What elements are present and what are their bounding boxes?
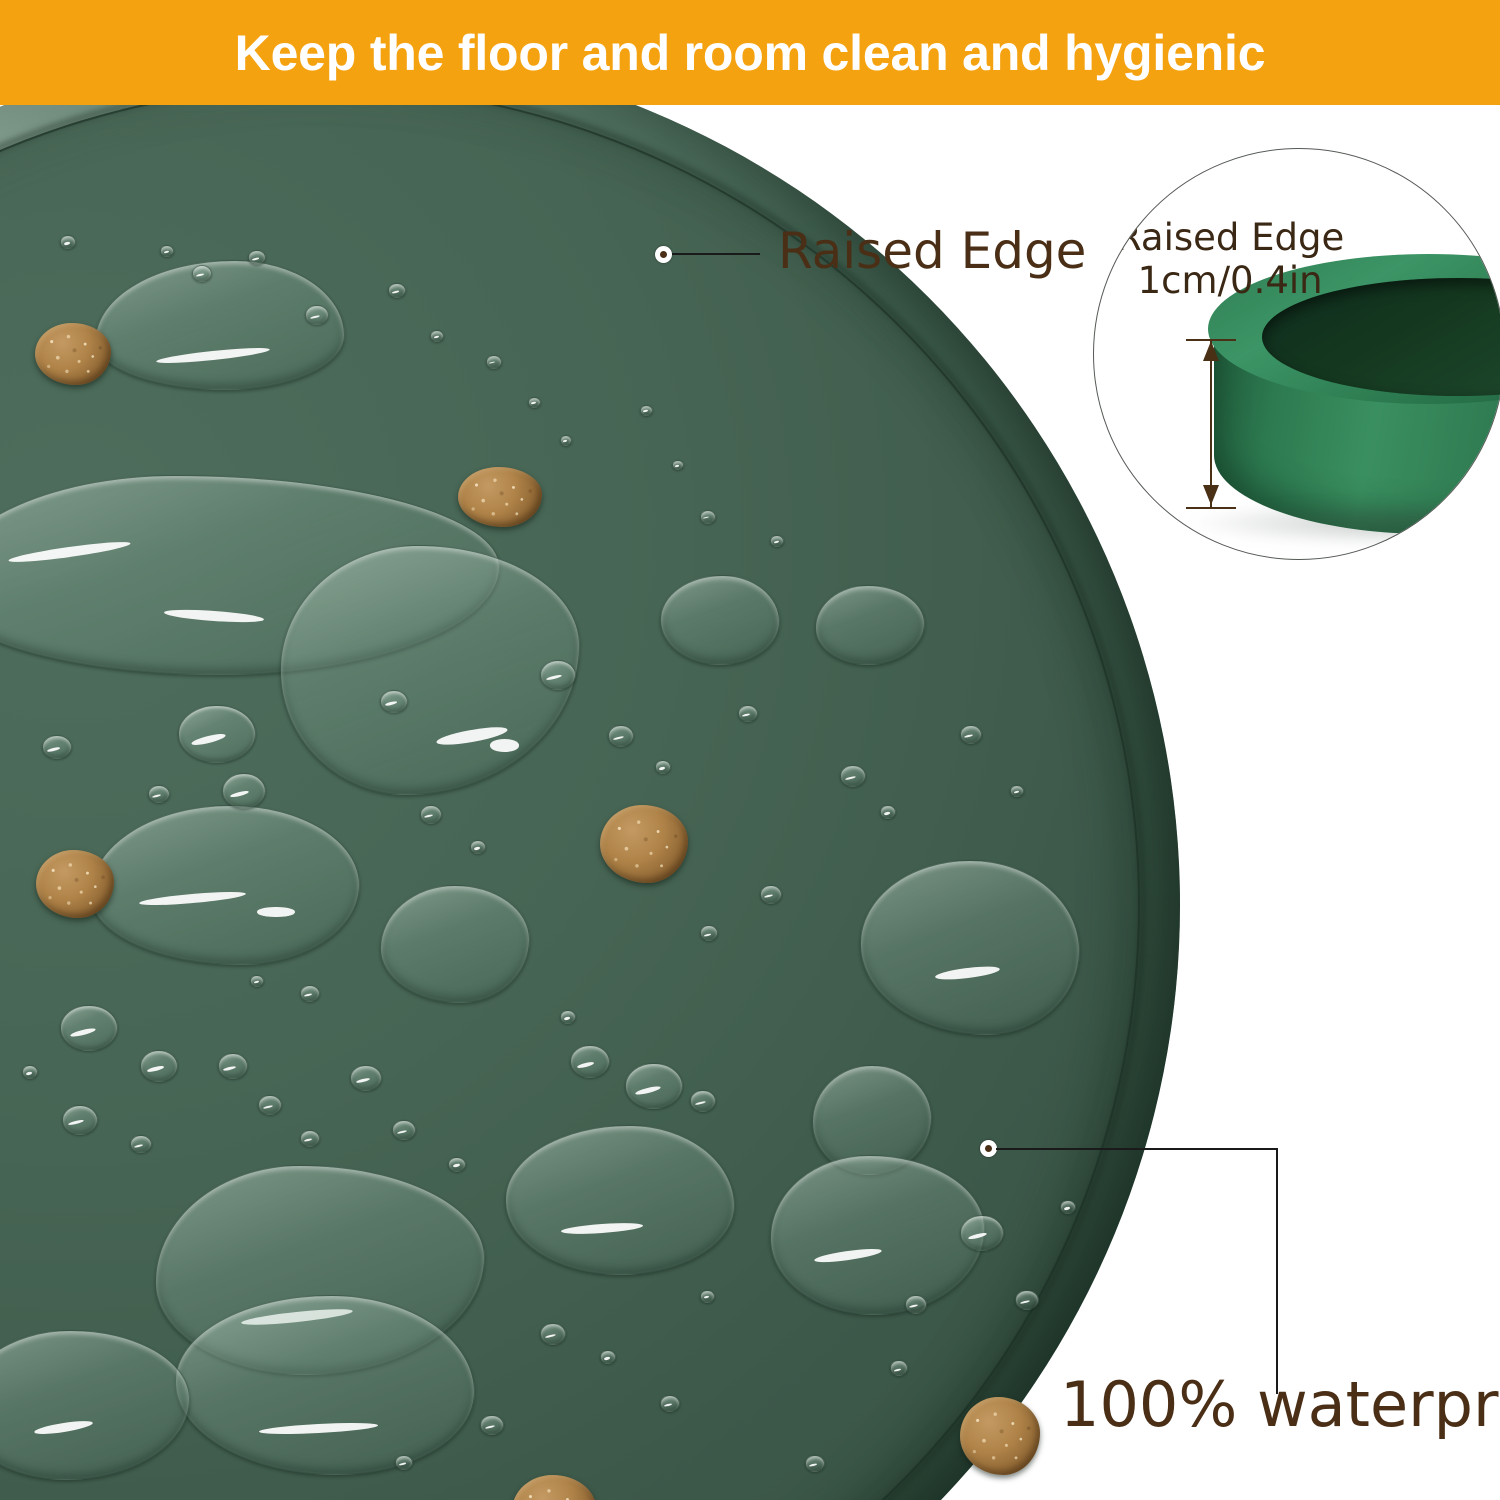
water-droplet xyxy=(222,773,266,809)
water-droplet xyxy=(60,235,76,249)
inset-label-line2: 1cm/0.4in xyxy=(1116,260,1344,303)
water-droplet xyxy=(540,660,576,690)
water-droplet xyxy=(250,975,264,987)
top-banner: Keep the floor and room clean and hygien… xyxy=(0,0,1500,105)
dimension-arrowhead-down-icon xyxy=(1203,485,1219,505)
inset-dimension-label: Raised Edge 1cm/0.4in xyxy=(1116,217,1344,303)
water-puddle xyxy=(660,575,780,665)
water-droplet xyxy=(608,725,634,747)
water-droplet xyxy=(486,355,502,369)
water-droplet xyxy=(805,1455,825,1472)
water-droplet xyxy=(1015,1290,1039,1310)
water-droplet xyxy=(960,1215,1004,1251)
kibble-piece xyxy=(35,323,111,385)
water-droplet xyxy=(700,925,718,941)
water-droplet xyxy=(540,1323,566,1345)
water-droplet xyxy=(305,305,329,325)
raised-edge-marker-dot xyxy=(655,246,672,263)
raised-edge-leader-line xyxy=(672,253,760,255)
water-droplet xyxy=(528,397,541,408)
water-droplet xyxy=(60,1005,118,1051)
marker-inner-dot xyxy=(985,1145,992,1152)
kibble-piece xyxy=(458,467,542,527)
product-photo-stage: Raised Edge 100% waterproof Raised Edge … xyxy=(0,105,1500,1500)
water-droplet xyxy=(178,705,256,763)
water-droplet xyxy=(655,760,671,774)
banner-headline: Keep the floor and room clean and hygien… xyxy=(235,24,1266,82)
water-puddle xyxy=(380,885,530,1003)
kibble-piece xyxy=(960,1397,1040,1475)
water-droplet xyxy=(700,1290,715,1303)
water-droplet xyxy=(880,805,896,819)
water-droplet xyxy=(560,1010,576,1024)
kibble-piece xyxy=(600,805,688,883)
water-droplet xyxy=(258,1095,282,1115)
water-droplet xyxy=(960,725,982,744)
water-droplet xyxy=(148,785,170,803)
water-droplet xyxy=(480,1415,504,1435)
water-droplet xyxy=(890,1360,908,1376)
water-droplet xyxy=(470,840,486,854)
water-droplet xyxy=(388,283,406,298)
callout-label-waterproof: 100% waterproof xyxy=(1060,1368,1500,1441)
callout-label-raised-edge: Raised Edge xyxy=(778,222,1086,280)
water-droplet xyxy=(840,765,866,787)
water-droplet xyxy=(420,805,442,824)
water-droplet xyxy=(1060,1200,1076,1214)
water-droplet xyxy=(160,245,174,257)
raised-edge-detail-inset: Raised Edge 1cm/0.4in xyxy=(1093,148,1500,560)
water-droplet xyxy=(905,1295,927,1314)
water-droplet xyxy=(660,1395,680,1412)
water-droplet xyxy=(42,735,72,759)
water-droplet xyxy=(672,460,684,470)
water-droplet xyxy=(300,985,320,1002)
water-droplet xyxy=(350,1065,382,1091)
water-droplet xyxy=(140,1050,178,1082)
water-droplet xyxy=(600,1350,616,1364)
water-droplet xyxy=(130,1135,152,1153)
water-puddle xyxy=(505,1125,735,1275)
water-droplet xyxy=(738,705,758,722)
waterproof-leader-line-horizontal xyxy=(996,1148,1278,1150)
dimension-cap-bottom xyxy=(1186,507,1236,509)
water-droplet xyxy=(448,1157,466,1172)
water-droplet xyxy=(192,265,212,282)
water-droplet xyxy=(300,1130,320,1147)
water-droplet xyxy=(430,330,444,342)
water-droplet xyxy=(1010,785,1024,797)
water-droplet xyxy=(560,435,572,446)
water-droplet xyxy=(395,1455,413,1470)
waterproof-leader-line-vertical xyxy=(1276,1148,1278,1394)
water-droplet xyxy=(62,1105,98,1135)
water-droplet xyxy=(700,510,716,524)
dimension-arrow xyxy=(1178,335,1244,513)
marker-inner-dot xyxy=(660,251,667,258)
water-droplet xyxy=(760,885,782,904)
inset-label-line1: Raised Edge xyxy=(1116,216,1344,259)
water-droplet xyxy=(218,1053,248,1079)
water-droplet xyxy=(570,1045,610,1078)
dimension-line xyxy=(1210,341,1212,507)
water-droplet xyxy=(770,535,784,547)
dimension-arrowhead-up-icon xyxy=(1203,341,1219,361)
kibble-piece xyxy=(512,1475,596,1500)
water-droplet xyxy=(248,250,266,265)
water-droplet xyxy=(380,690,408,713)
water-droplet xyxy=(22,1065,38,1079)
water-droplet xyxy=(625,1063,683,1109)
water-droplet xyxy=(690,1090,716,1112)
water-droplet xyxy=(640,405,653,416)
waterproof-marker-dot xyxy=(980,1140,997,1157)
kibble-piece xyxy=(36,850,114,918)
water-droplet xyxy=(392,1120,416,1140)
